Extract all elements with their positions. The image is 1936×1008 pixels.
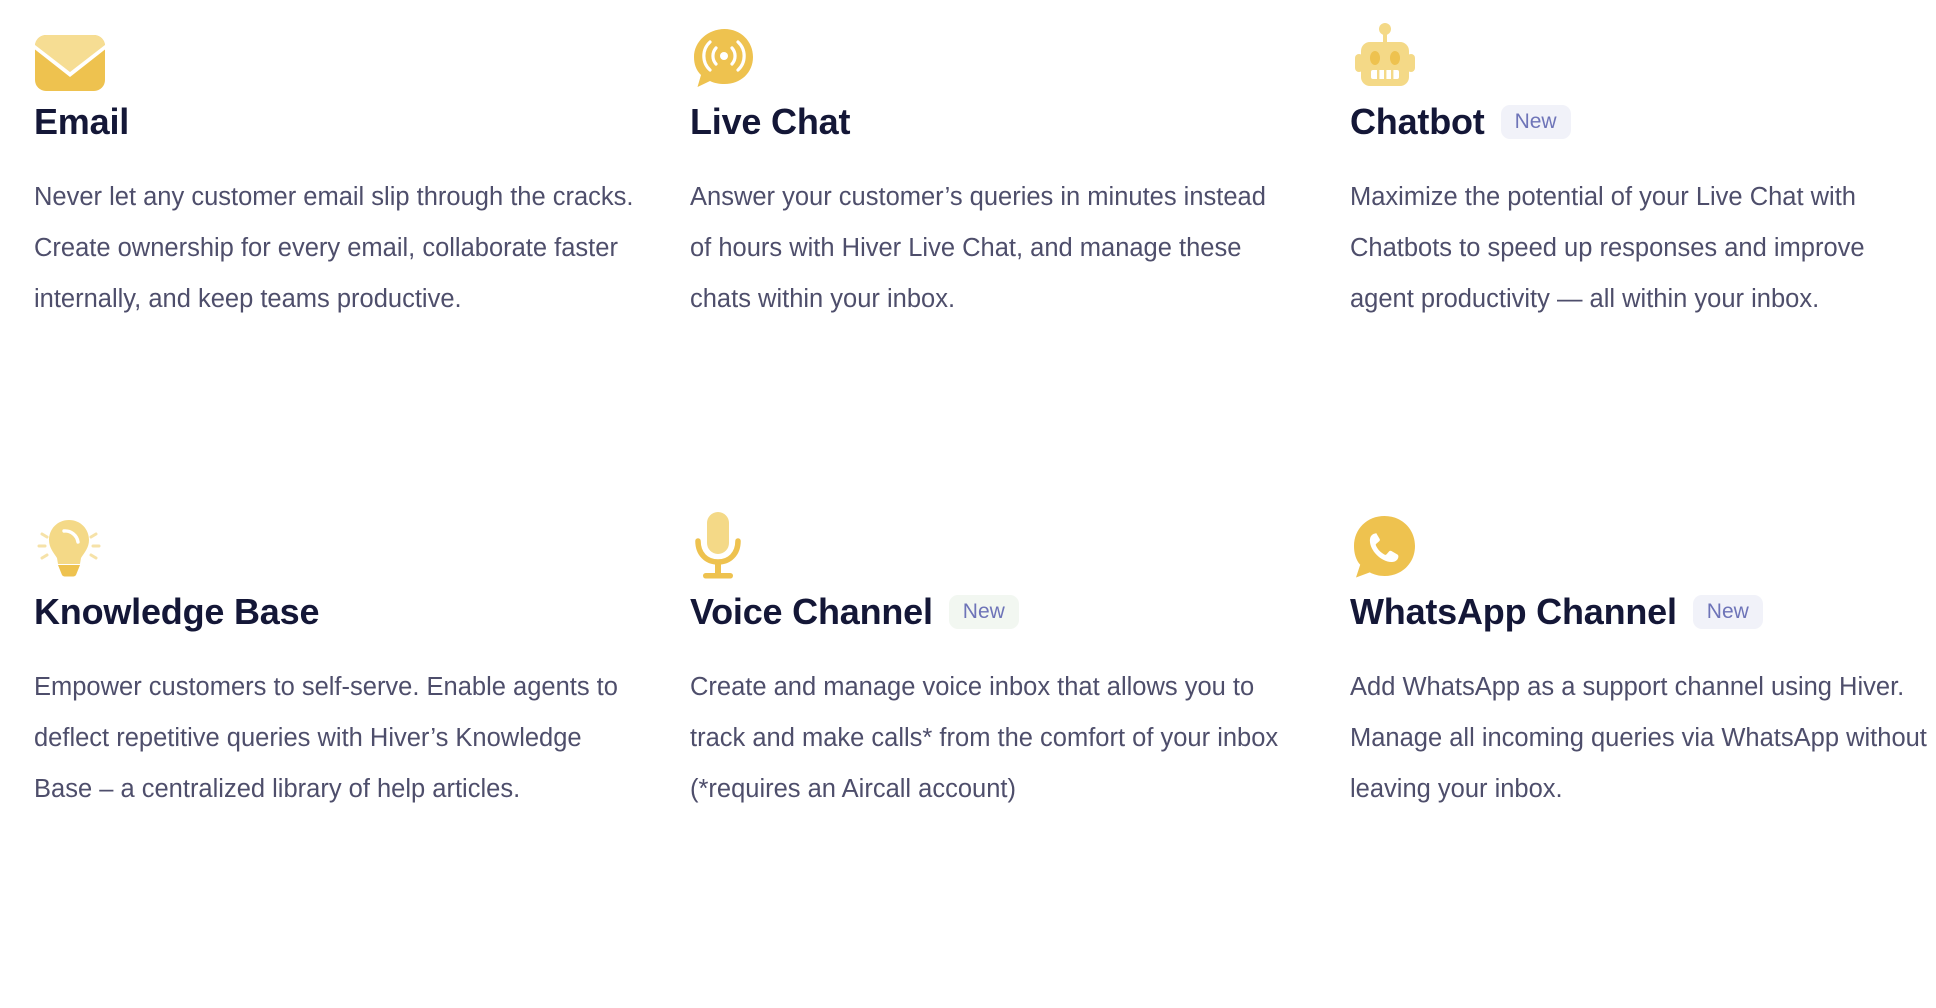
feature-description: Never let any customer email slip throug… xyxy=(34,172,634,325)
feature-title: Knowledge Base xyxy=(34,592,319,632)
microphone-icon xyxy=(690,498,1290,582)
feature-title: Email xyxy=(34,102,129,142)
title-row: Email xyxy=(34,98,634,146)
robot-icon xyxy=(1350,8,1936,92)
feature-title: Voice Channel xyxy=(690,592,933,632)
title-row: Chatbot New xyxy=(1350,98,1936,146)
whatsapp-icon xyxy=(1350,498,1936,582)
feature-description: Add WhatsApp as a support channel using … xyxy=(1350,662,1930,815)
feature-description: Maximize the potential of your Live Chat… xyxy=(1350,172,1930,325)
title-row: Live Chat xyxy=(690,98,1290,146)
feature-description: Answer your customer’s queries in minute… xyxy=(690,172,1290,325)
status-badge-new: New xyxy=(949,595,1019,629)
feature-title: WhatsApp Channel xyxy=(1350,592,1677,632)
lightbulb-icon xyxy=(34,498,634,582)
feature-title: Chatbot xyxy=(1350,102,1485,142)
feature-card-knowledge-base: Knowledge Base Empower customers to self… xyxy=(34,498,634,815)
feature-card-voice-channel: Voice Channel New Create and manage voic… xyxy=(690,498,1290,815)
feature-card-whatsapp-channel: WhatsApp Channel New Add WhatsApp as a s… xyxy=(1350,498,1936,815)
feature-card-chatbot: Chatbot New Maximize the potential of yo… xyxy=(1350,8,1936,325)
feature-title: Live Chat xyxy=(690,102,850,142)
title-row: WhatsApp Channel New xyxy=(1350,588,1936,636)
feature-description: Create and manage voice inbox that allow… xyxy=(690,662,1290,815)
envelope-icon xyxy=(34,8,634,92)
features-grid: Email Never let any customer email slip … xyxy=(0,0,1936,1008)
title-row: Voice Channel New xyxy=(690,588,1290,636)
title-row: Knowledge Base xyxy=(34,588,634,636)
status-badge-new: New xyxy=(1693,595,1763,629)
chat-bubble-broadcast-icon xyxy=(690,8,1290,92)
feature-description: Empower customers to self-serve. Enable … xyxy=(34,662,634,815)
feature-card-email: Email Never let any customer email slip … xyxy=(34,8,634,325)
feature-card-live-chat: Live Chat Answer your customer’s queries… xyxy=(690,8,1290,325)
status-badge-new: New xyxy=(1501,105,1571,139)
